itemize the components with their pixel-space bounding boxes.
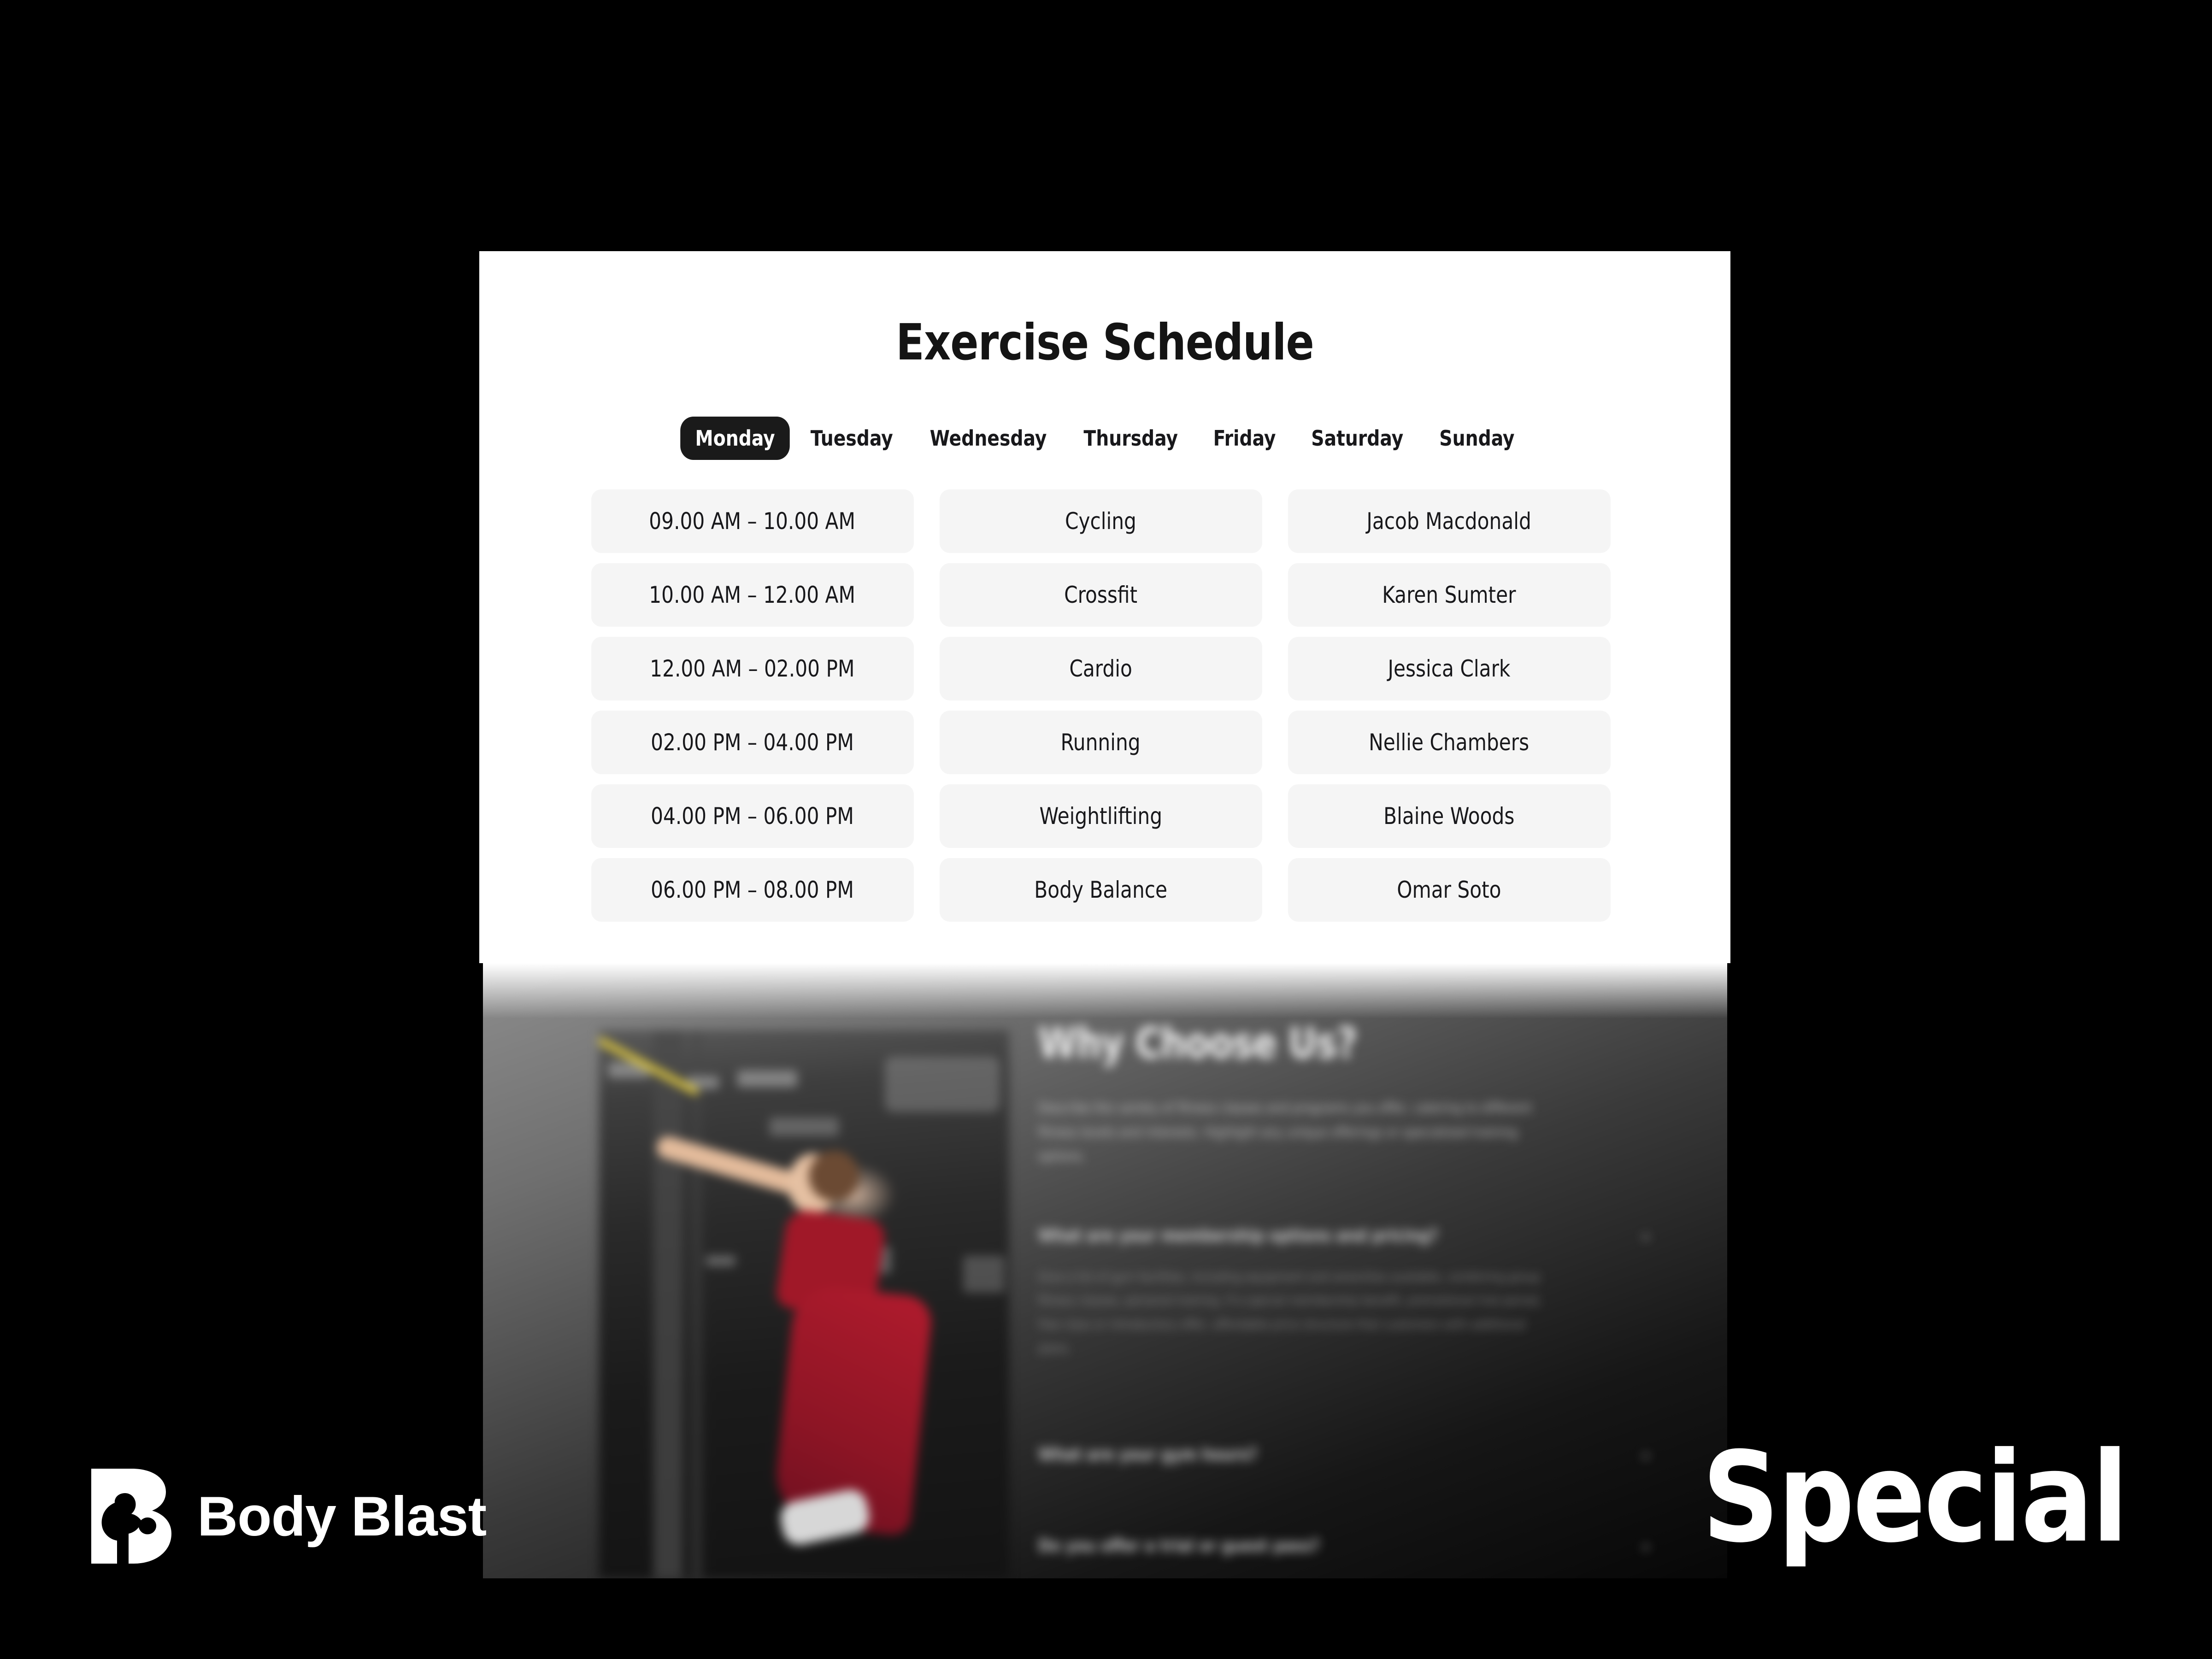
schedule-trainer-label: Omar Soto: [1397, 877, 1501, 903]
schedule-time-cell[interactable]: 06.00 PM – 08.00 PM: [591, 858, 914, 922]
day-tab-tuesday[interactable]: Tuesday: [796, 417, 908, 460]
schedule-trainer-cell[interactable]: Blaine Woods: [1288, 784, 1611, 848]
schedule-class-label: Body Balance: [1034, 877, 1167, 903]
screenshot-stage: Exercise Schedule Monday Tuesday Wednesd…: [0, 0, 2212, 1659]
why-choose-us-content: Why Choose Us? Describe the variety of f…: [1038, 1018, 1656, 1578]
schedule-row: 02.00 PM – 04.00 PM Running Nellie Chamb…: [591, 711, 1619, 774]
schedule-time-label: 10.00 AM – 12.00 AM: [649, 582, 856, 608]
schedule-time-label: 02.00 PM – 04.00 PM: [651, 729, 854, 756]
gym-training-photo: [599, 1030, 1009, 1578]
schedule-class-cell[interactable]: Crossfit: [940, 563, 1262, 627]
schedule-time-label: 04.00 PM – 06.00 PM: [651, 803, 854, 829]
schedule-row: 04.00 PM – 06.00 PM Weightlifting Blaine…: [591, 784, 1619, 848]
schedule-class-label: Weightlifting: [1039, 803, 1162, 829]
day-tab-wednesday[interactable]: Wednesday: [915, 417, 1061, 460]
schedule-row: 10.00 AM – 12.00 AM Crossfit Karen Sumte…: [591, 563, 1619, 627]
schedule-row: 12.00 AM – 02.00 PM Cardio Jessica Clark: [591, 637, 1619, 700]
page-title: Exercise Schedule: [523, 314, 1687, 371]
faq-answer: Give a list of gym facilities, including…: [1038, 1265, 1542, 1360]
schedule-class-label: Crossfit: [1064, 582, 1137, 608]
faq-item[interactable]: Do you offer a trial or guest pass? +: [1038, 1535, 1656, 1566]
day-tab-friday[interactable]: Friday: [1199, 417, 1291, 460]
schedule-trainer-label: Nellie Chambers: [1369, 729, 1529, 756]
schedule-time-cell[interactable]: 04.00 PM – 06.00 PM: [591, 784, 914, 848]
schedule-time-label: 09.00 AM – 10.00 AM: [649, 508, 856, 535]
schedule-row: 09.00 AM – 10.00 AM Cycling Jacob Macdon…: [591, 489, 1619, 553]
schedule-trainer-label: Blaine Woods: [1383, 803, 1514, 829]
schedule-class-label: Cycling: [1065, 508, 1136, 535]
why-choose-us-panel: Why Choose Us? Describe the variety of f…: [483, 963, 1727, 1578]
schedule-class-cell[interactable]: Body Balance: [940, 858, 1262, 922]
faq-item[interactable]: What are your gym hours? +: [1038, 1444, 1656, 1475]
why-choose-us-blur-layer: Why Choose Us? Describe the variety of f…: [483, 963, 1727, 1578]
schedule-time-cell[interactable]: 02.00 PM – 04.00 PM: [591, 711, 914, 774]
why-choose-us-heading: Why Choose Us?: [1038, 1018, 1606, 1068]
schedule-trainer-label: Jacob Macdonald: [1367, 508, 1531, 535]
overlay-word: Special: [1702, 1435, 2127, 1560]
faq-expand-icon[interactable]: +: [1641, 1228, 1651, 1247]
schedule-row: 06.00 PM – 08.00 PM Body Balance Omar So…: [591, 858, 1619, 922]
schedule-trainer-cell[interactable]: Omar Soto: [1288, 858, 1611, 922]
faq-question: What are your gym hours?: [1038, 1444, 1612, 1465]
faq-expand-icon[interactable]: +: [1641, 1447, 1651, 1465]
schedule-time-cell[interactable]: 10.00 AM – 12.00 AM: [591, 563, 914, 627]
day-tab-thursday[interactable]: Thursday: [1069, 417, 1193, 460]
schedule-time-label: 12.00 AM – 02.00 PM: [650, 655, 854, 682]
schedule-trainer-cell[interactable]: Karen Sumter: [1288, 563, 1611, 627]
exercise-schedule-card: Exercise Schedule Monday Tuesday Wednesd…: [479, 251, 1730, 963]
faq-question: Do you offer a trial or guest pass?: [1038, 1535, 1612, 1556]
schedule-time-label: 06.00 PM – 08.00 PM: [651, 877, 854, 903]
day-tab-monday[interactable]: Monday: [681, 417, 790, 460]
schedule-trainer-cell[interactable]: Nellie Chambers: [1288, 711, 1611, 774]
brand-lockup: Body Blast: [88, 1463, 486, 1569]
day-tab-bar[interactable]: Monday Tuesday Wednesday Thursday Friday…: [479, 417, 1730, 460]
schedule-time-cell[interactable]: 12.00 AM – 02.00 PM: [591, 637, 914, 700]
schedule-class-label: Running: [1061, 729, 1141, 756]
b-bodybuilder-logo-icon: [88, 1463, 175, 1569]
schedule-class-cell[interactable]: Cardio: [940, 637, 1262, 700]
faq-list: What are your membership options and pri…: [1038, 1225, 1656, 1579]
schedule-time-cell[interactable]: 09.00 AM – 10.00 AM: [591, 489, 914, 553]
schedule-trainer-cell[interactable]: Jessica Clark: [1288, 637, 1611, 700]
faq-expand-icon[interactable]: +: [1641, 1538, 1651, 1557]
schedule-class-cell[interactable]: Weightlifting: [940, 784, 1262, 848]
why-choose-us-intro: Describe the variety of fitness classes …: [1038, 1096, 1555, 1169]
day-tab-saturday[interactable]: Saturday: [1296, 417, 1418, 460]
schedule-trainer-label: Jessica Clark: [1388, 655, 1511, 682]
faq-item[interactable]: What are your membership options and pri…: [1038, 1225, 1656, 1371]
schedule-class-label: Cardio: [1069, 655, 1132, 682]
schedule-trainer-label: Karen Sumter: [1382, 582, 1516, 608]
schedule-class-cell[interactable]: Cycling: [940, 489, 1262, 553]
schedule-grid: 09.00 AM – 10.00 AM Cycling Jacob Macdon…: [591, 489, 1619, 922]
schedule-trainer-cell[interactable]: Jacob Macdonald: [1288, 489, 1611, 553]
brand-name: Body Blast: [197, 1484, 486, 1548]
schedule-class-cell[interactable]: Running: [940, 711, 1262, 774]
faq-question: What are your membership options and pri…: [1038, 1225, 1612, 1246]
day-tab-sunday[interactable]: Sunday: [1424, 417, 1530, 460]
